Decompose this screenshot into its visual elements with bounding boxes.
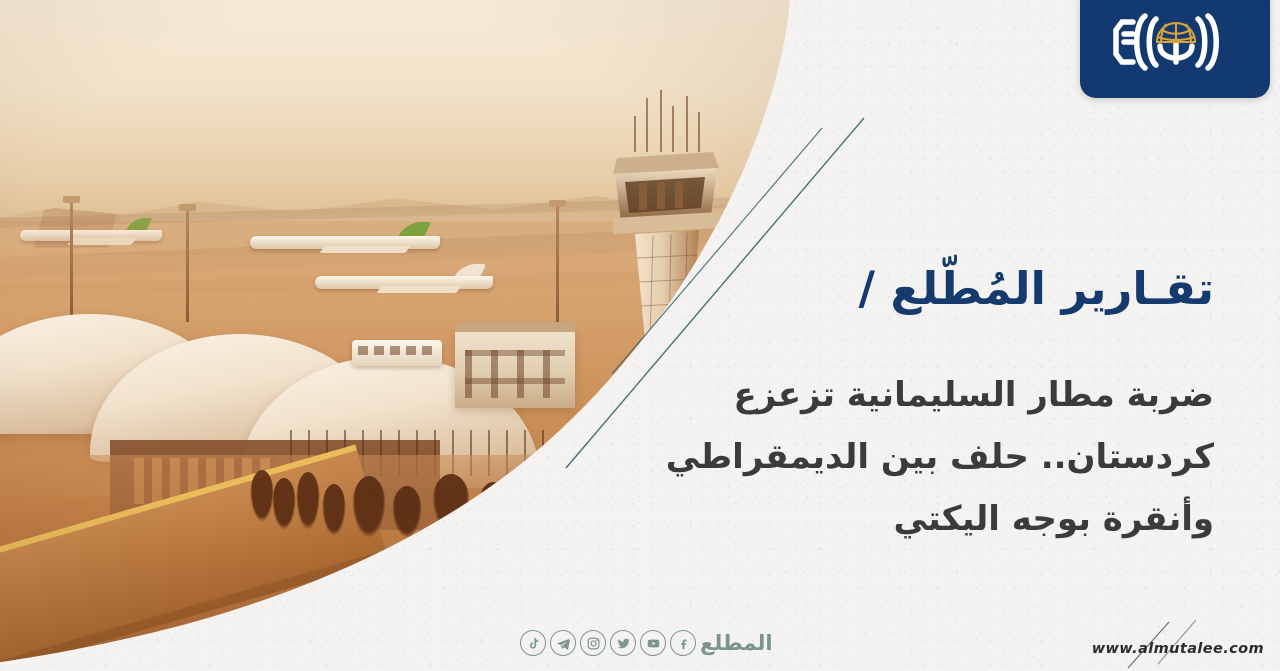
photo-tree bbox=[322, 484, 346, 536]
photo-tree bbox=[352, 476, 386, 538]
youtube-icon[interactable] bbox=[640, 630, 666, 656]
headline-line-3: وأنقرة بوجه اليكتي bbox=[654, 489, 1214, 551]
twitter-icon[interactable] bbox=[610, 630, 636, 656]
headline-line-1: ضربة مطار السليمانية تزعزع bbox=[654, 365, 1214, 427]
almutalee-globe-logo-icon[interactable] bbox=[1080, 0, 1270, 98]
photo-aircraft bbox=[20, 222, 170, 252]
photo-tree bbox=[272, 478, 296, 530]
footer-social-bar: المطلع bbox=[520, 630, 779, 656]
photo-shuttle-bus bbox=[352, 340, 442, 366]
photo-office-building bbox=[455, 330, 575, 408]
site-url-label[interactable]: www.almutalee.com bbox=[1092, 641, 1264, 657]
tiktok-icon[interactable] bbox=[520, 630, 546, 656]
instagram-icon[interactable] bbox=[580, 630, 606, 656]
facebook-icon[interactable] bbox=[670, 630, 696, 656]
photo-aircraft bbox=[250, 228, 450, 264]
page-kicker: تقـارير المُطّلع / bbox=[858, 262, 1214, 315]
news-card: تقـارير المُطّلع / ضربة مطار السليمانية … bbox=[0, 0, 1280, 671]
photo-tree bbox=[392, 486, 422, 538]
headline-line-2: كردستان.. حلف بين الديمقراطي bbox=[654, 427, 1214, 489]
telegram-icon[interactable] bbox=[550, 630, 576, 656]
page-title: ضربة مطار السليمانية تزعزع كردستان.. حلف… bbox=[654, 365, 1214, 551]
brand-name-label: المطلع bbox=[700, 631, 773, 655]
photo-tree bbox=[296, 472, 320, 530]
logo-mark-icon bbox=[1100, 2, 1250, 82]
photo-tree bbox=[250, 470, 274, 522]
photo-aircraft bbox=[315, 268, 505, 304]
